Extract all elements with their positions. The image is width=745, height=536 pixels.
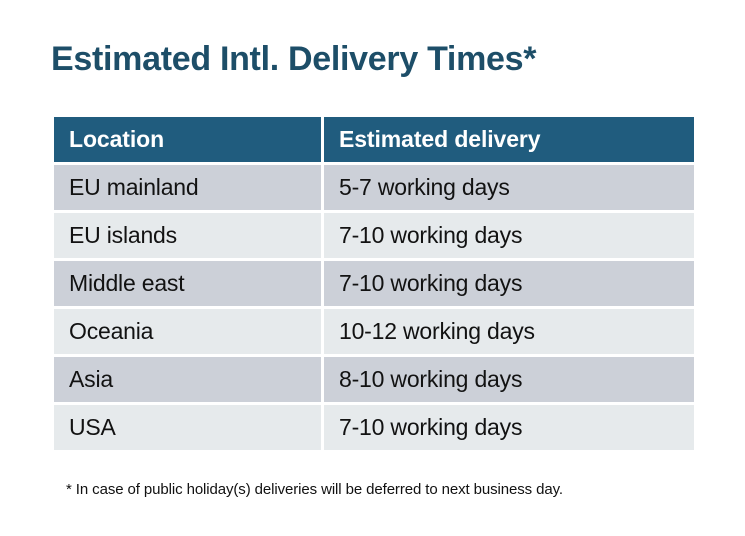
cell-location: EU islands	[54, 213, 321, 258]
footnote-text: * In case of public holiday(s) deliverie…	[66, 481, 563, 498]
page-title: Estimated Intl. Delivery Times*	[51, 38, 536, 80]
column-header-location: Location	[54, 117, 321, 162]
cell-delivery: 7-10 working days	[324, 213, 694, 258]
cell-delivery: 10-12 working days	[324, 309, 694, 354]
cell-location: EU mainland	[54, 165, 321, 210]
cell-delivery: 7-10 working days	[324, 261, 694, 306]
table-header-row: Location Estimated delivery	[54, 117, 694, 162]
cell-location: Oceania	[54, 309, 321, 354]
table-body: EU mainland 5-7 working days EU islands …	[54, 165, 694, 450]
cell-location: Middle east	[54, 261, 321, 306]
table-row: EU islands 7-10 working days	[54, 213, 694, 258]
column-header-estimated-delivery: Estimated delivery	[324, 117, 694, 162]
table-row: Oceania 10-12 working days	[54, 309, 694, 354]
table-row: Middle east 7-10 working days	[54, 261, 694, 306]
cell-delivery: 5-7 working days	[324, 165, 694, 210]
cell-location: Asia	[54, 357, 321, 402]
table-header: Location Estimated delivery	[54, 117, 694, 162]
cell-location: USA	[54, 405, 321, 450]
cell-delivery: 8-10 working days	[324, 357, 694, 402]
table-row: EU mainland 5-7 working days	[54, 165, 694, 210]
delivery-times-page: Estimated Intl. Delivery Times* Location…	[0, 0, 745, 536]
delivery-times-table: Location Estimated delivery EU mainland …	[51, 114, 697, 453]
cell-delivery: 7-10 working days	[324, 405, 694, 450]
table-row: USA 7-10 working days	[54, 405, 694, 450]
table-row: Asia 8-10 working days	[54, 357, 694, 402]
